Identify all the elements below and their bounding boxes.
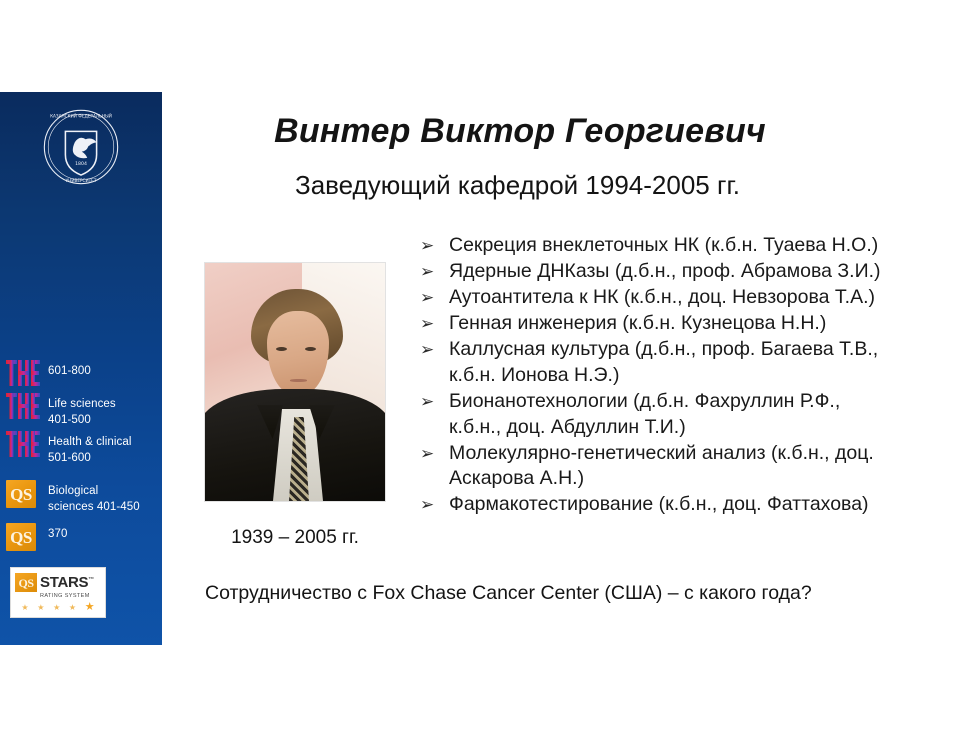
ranking-badge-row: Health & clinical 501-600: [0, 431, 162, 466]
list-item: ➢ Аутоантитела к НК (к.б.н., доц. Невзор…: [420, 285, 972, 311]
arrow-bullet-icon: ➢: [420, 441, 449, 467]
list-item-line-1: Молекулярно-генетический анализ (к.б.н.,…: [449, 442, 874, 464]
qs-stars-mark-icon: QS: [15, 573, 37, 592]
svg-text:1804: 1804: [75, 161, 87, 167]
star-icon: ★: [53, 604, 60, 612]
list-item: ➢ Фармакотестирование (к.б.н., доц. Фатт…: [420, 492, 972, 518]
ranking-line-2: 401-500: [48, 413, 116, 429]
ranking-line-2: sciences 401-450: [48, 500, 140, 516]
arrow-bullet-icon: ➢: [420, 233, 449, 259]
ranking-line-1: Health & clinical: [48, 435, 132, 451]
arrow-bullet-icon: ➢: [420, 492, 449, 518]
list-item: ➢ Молекулярно-генетический анализ (к.б.н…: [420, 441, 972, 492]
the-logo-icon: [6, 393, 40, 423]
list-item-line-1: Бионанотехнологии (д.б.н. Фахруллин Р.Ф.…: [449, 390, 840, 412]
list-item-line-2: Аскарова А.Н.): [449, 466, 972, 492]
ranking-line-1: 601-800: [48, 365, 91, 377]
page-subtitle: Заведующий кафедрой 1994-2005 гг.: [0, 170, 980, 201]
star-icon: ★: [69, 604, 76, 612]
qs-stars-badge: QS STARS™ RATING SYSTEM ★ ★ ★ ★ ★: [10, 567, 106, 618]
ranking-badge-row: QS Biological sciences 401-450: [0, 480, 162, 515]
qs-stars-word: STARS™: [40, 575, 94, 590]
list-item-line-1: Каллусная культура (д.б.н., проф. Багаев…: [449, 338, 878, 360]
arrow-bullet-icon: ➢: [420, 259, 449, 285]
qs-stars-rating-row: ★ ★ ★ ★ ★: [15, 602, 101, 613]
list-item-text: Ядерные ДНКазы (д.б.н., проф. Абрамова З…: [449, 259, 972, 285]
star-icon: ★: [37, 604, 44, 612]
ranking-line-2: 501-600: [48, 451, 132, 467]
page-title: Винтер Виктор Георгиевич: [0, 112, 980, 151]
list-item-line-2: к.б.н. Ионова Н.Э.): [449, 363, 972, 389]
ranking-badge-row: QS 370: [0, 523, 162, 553]
list-item-line-2: к.б.н., доц. Абдуллин Т.И.): [449, 415, 972, 441]
the-logo-icon: [6, 431, 40, 461]
the-logo-icon: [6, 360, 40, 390]
list-item-text: Генная инженерия (к.б.н. Кузнецова Н.Н.): [449, 311, 972, 337]
qs-logo-icon: QS: [6, 480, 40, 510]
research-topics-list: ➢ Секреция внеклеточных НК (к.б.н. Туаев…: [420, 233, 972, 519]
ranking-badge-text: 601-800: [48, 360, 91, 380]
list-item-text: Фармакотестирование (к.б.н., доц. Фаттах…: [449, 492, 972, 518]
list-item-text: Секреция внеклеточных НК (к.б.н. Туаева …: [449, 233, 972, 259]
footer-question: Сотрудничество с Fox Chase Cancer Center…: [205, 582, 812, 605]
list-item-text: Молекулярно-генетический анализ (к.б.н.,…: [449, 441, 972, 492]
ranking-badge-text: Biological sciences 401-450: [48, 480, 140, 515]
arrow-bullet-icon: ➢: [420, 389, 449, 415]
list-item: ➢ Каллусная культура (д.б.н., проф. Бага…: [420, 337, 972, 388]
trademark-symbol: ™: [88, 577, 94, 583]
list-item-text: Бионанотехнологии (д.б.н. Фахруллин Р.Ф.…: [449, 389, 972, 440]
list-item: ➢ Ядерные ДНКазы (д.б.н., проф. Абрамова…: [420, 259, 972, 285]
arrow-bullet-icon: ➢: [420, 311, 449, 337]
ranking-badge-text: 370: [48, 523, 68, 543]
list-item-text: Аутоантитела к НК (к.б.н., доц. Невзоров…: [449, 285, 972, 311]
arrow-bullet-icon: ➢: [420, 337, 449, 363]
photo-caption: 1939 – 2005 гг.: [205, 527, 385, 549]
ranking-badge-text: Health & clinical 501-600: [48, 431, 132, 466]
ranking-badge-text: Life sciences 401-500: [48, 393, 116, 428]
qs-stars-subtitle: RATING SYSTEM: [40, 593, 101, 599]
star-icon: ★: [21, 604, 28, 612]
arrow-bullet-icon: ➢: [420, 285, 449, 311]
ranking-line-1: Biological: [48, 484, 140, 500]
list-item-text: Каллусная культура (д.б.н., проф. Багаев…: [449, 337, 972, 388]
list-item: ➢ Бионанотехнологии (д.б.н. Фахруллин Р.…: [420, 389, 972, 440]
qs-logo-icon: QS: [6, 523, 40, 553]
list-item: ➢ Генная инженерия (к.б.н. Кузнецова Н.Н…: [420, 311, 972, 337]
ranking-line-1: Life sciences: [48, 397, 116, 413]
ranking-line-1: 370: [48, 528, 68, 540]
ranking-badge-row: 601-800: [0, 360, 162, 390]
portrait-photo: [205, 263, 385, 501]
ranking-badge-row: Life sciences 401-500: [0, 393, 162, 428]
list-item: ➢ Секреция внеклеточных НК (к.б.н. Туаев…: [420, 233, 972, 259]
ranking-badge-list: 601-800 Life sciences 401-500: [0, 360, 162, 618]
star-icon: ★: [85, 602, 95, 613]
